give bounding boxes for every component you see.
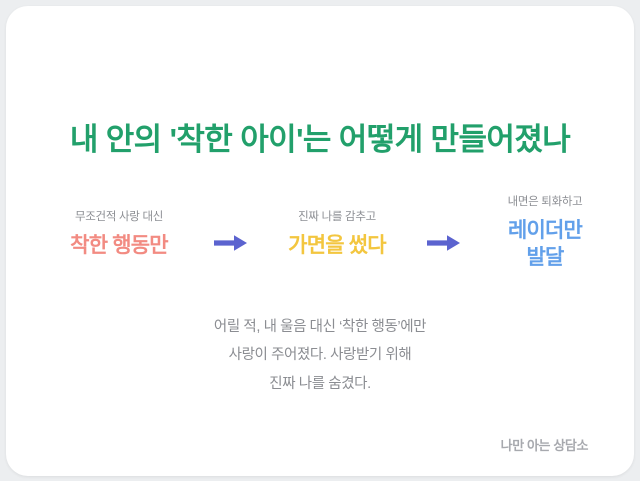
flow-step-3-label-line-1: 레이더만 <box>470 218 620 245</box>
page-title: 내 안의 '착한 아이'는 어떻게 만들어졌나 <box>6 114 634 159</box>
flow-step-2: 진짜 나를 감추고 가면을 썼다 <box>257 186 417 260</box>
flow-step-1: 무조건적 사랑 대신 착한 행동만 <box>34 186 204 260</box>
body-line-2: 사랑이 주어졌다. 사랑받기 위해 <box>6 341 634 369</box>
flow-step-1-caption: 무조건적 사랑 대신 <box>34 211 204 225</box>
brand-footer: 나만 아는 상담소 <box>501 435 588 454</box>
flow-step-1-label: 착한 행동만 <box>34 233 204 260</box>
flow-step-3-label: 레이더만 발달 <box>470 218 620 272</box>
flow-step-2-caption: 진짜 나를 감추고 <box>257 211 417 225</box>
slide-stage: 내 안의 '착한 아이'는 어떻게 만들어졌나 무조건적 사랑 대신 착한 행동… <box>0 0 640 481</box>
body-line-3: 진짜 나를 숨겼다. <box>6 370 634 398</box>
flow-step-2-label: 가면을 썼다 <box>257 233 417 260</box>
body-paragraph: 어릴 적, 내 울음 대신 ‘착한 행동’에만 사랑이 주어졌다. 사랑받기 위… <box>6 313 634 398</box>
flow-step-3-label-line-2: 발달 <box>470 245 620 272</box>
flow-step-3-caption: 내면은 퇴화하고 <box>470 196 620 210</box>
body-line-1: 어릴 적, 내 울음 대신 ‘착한 행동’에만 <box>6 313 634 341</box>
content-card: 내 안의 '착한 아이'는 어떻게 만들어졌나 무조건적 사랑 대신 착한 행동… <box>6 6 634 476</box>
arrow-right-icon <box>423 186 465 252</box>
process-flow: 무조건적 사랑 대신 착한 행동만 진짜 나를 감추고 가면을 썼다 <box>34 186 620 296</box>
arrow-right-icon <box>210 186 252 252</box>
flow-step-3: 내면은 퇴화하고 레이더만 발달 <box>470 186 620 272</box>
